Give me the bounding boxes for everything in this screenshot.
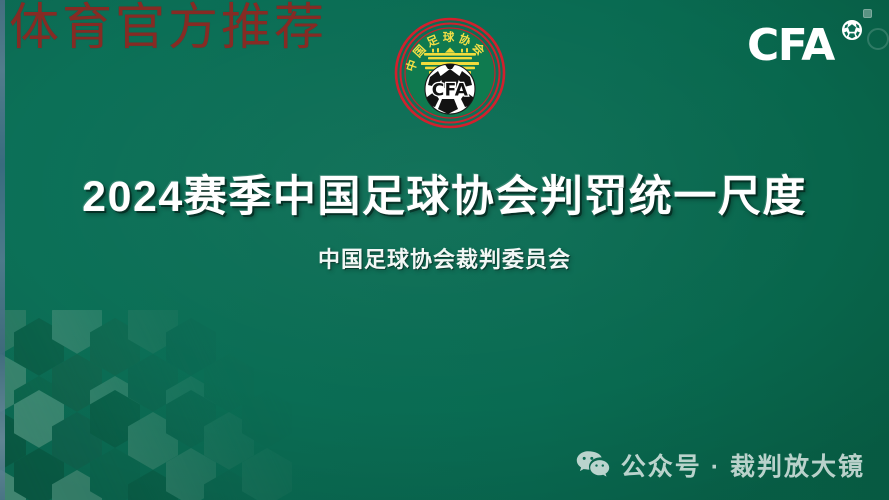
cfa-wordmark-logo-icon: CFA (747, 19, 867, 65)
left-edge-strip (0, 0, 5, 500)
wechat-credit: 公众号 · 裁判放大镜 (576, 447, 865, 483)
wechat-credit-label: 公众号 · 裁判放大镜 (621, 447, 865, 483)
top-right-arc-artifact (867, 28, 889, 50)
title-block: 2024赛季中国足球协会判罚统一尺度 中国足球协会裁判委员会 (0, 172, 889, 274)
watermark-text: 体育官方推荐 (9, 0, 327, 57)
top-right-artifact-icon (863, 9, 872, 18)
page-title: 2024赛季中国足球协会判罚统一尺度 (0, 172, 889, 223)
hexagon-pattern-decoration (0, 310, 296, 500)
svg-text:CFA: CFA (747, 20, 835, 65)
cfa-association-emblem-icon: 中国足球协会 (394, 17, 506, 129)
svg-text:CFA: CFA (432, 81, 469, 101)
page-subtitle: 中国足球协会裁判委员会 (0, 242, 889, 274)
wechat-icon (576, 450, 610, 480)
presentation-slide: 体育官方推荐 中国足球协会 (0, 0, 889, 500)
